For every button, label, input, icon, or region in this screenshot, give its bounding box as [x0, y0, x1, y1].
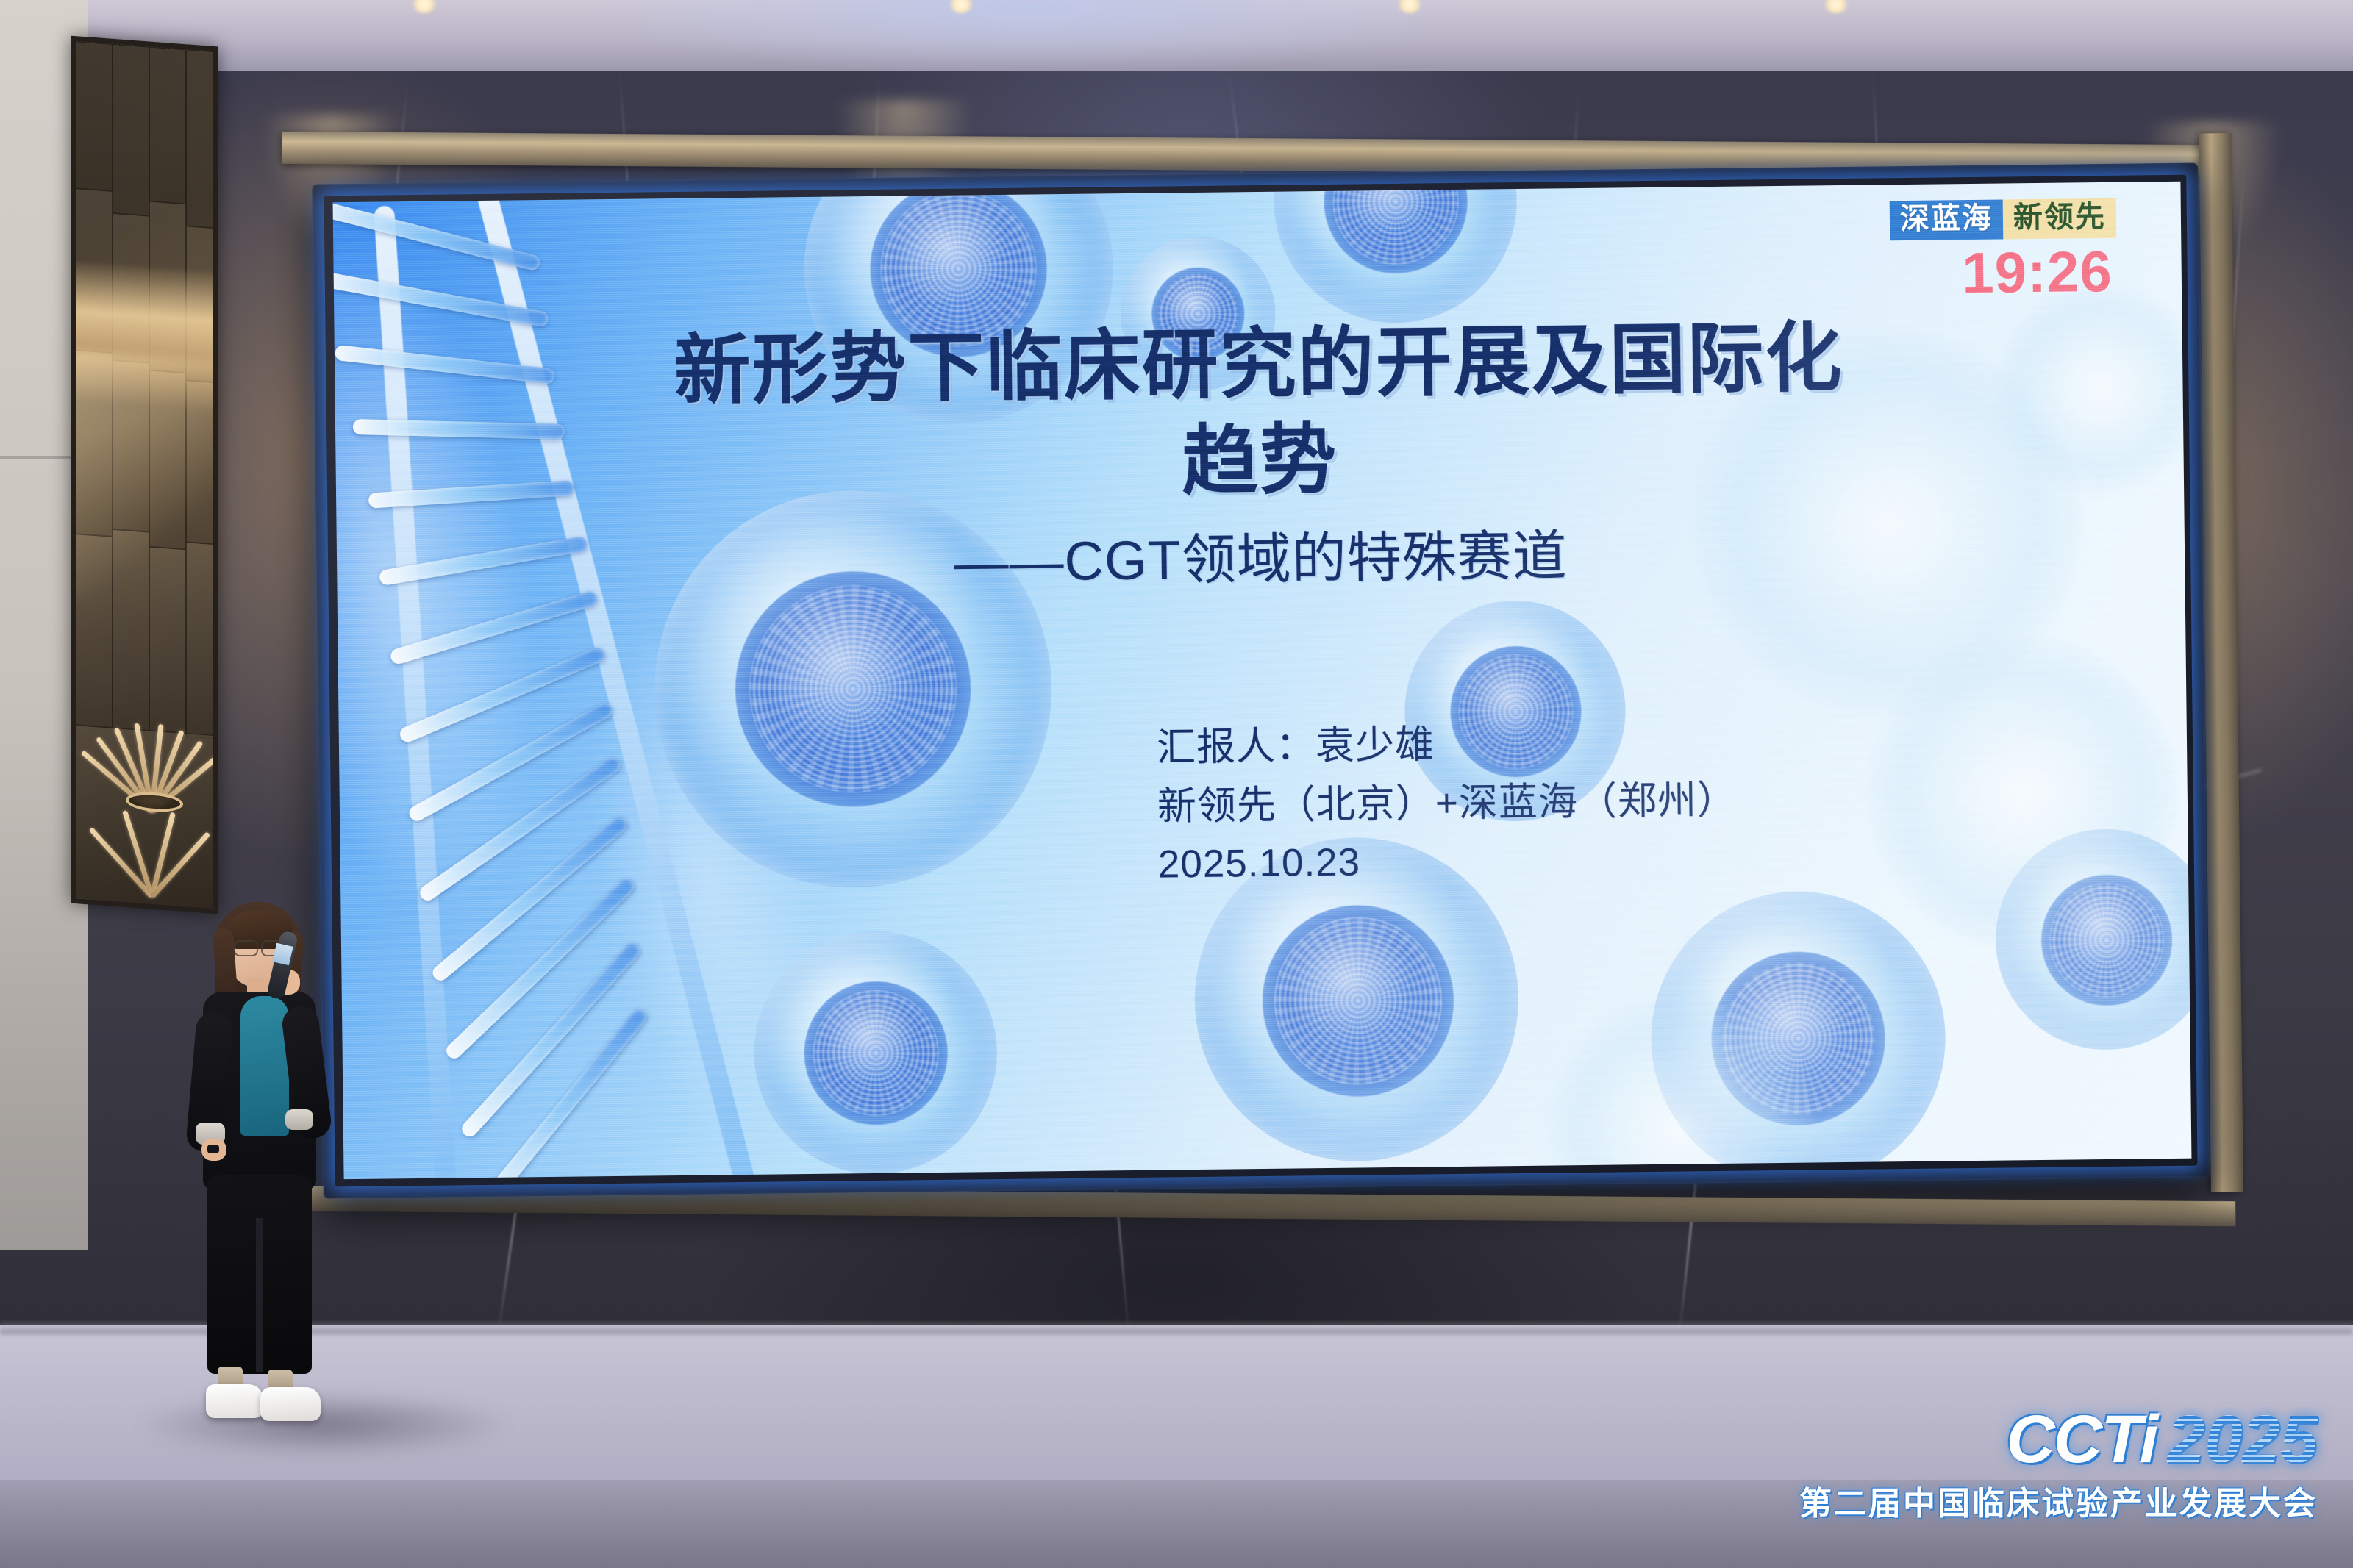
ceiling-light-icon — [949, 0, 974, 13]
conference-logo: CCTi 2025 第二届中国临床试验产业发展大会 — [1799, 1408, 2318, 1524]
logo-brand: CCTi — [2006, 1408, 2157, 1471]
decorative-gold-panel — [71, 36, 218, 914]
logo-year: 2025 — [2167, 1408, 2318, 1471]
presenter-info-block: 汇报人：袁少雄 新领先（北京）+深蓝海（郑州） 2025.10.23 — [1157, 712, 1738, 894]
ceiling-light-icon — [1397, 0, 1422, 13]
shoe-left — [206, 1384, 263, 1418]
sculpture-blade — [89, 827, 154, 898]
screen-bezel: 新形势下临床研究的开展及国际化 趋势 ——CGT领域的特殊赛道 汇报人：袁少雄 … — [312, 162, 2209, 1198]
ceiling-light-row — [0, 0, 2353, 29]
presenter-affiliation-line: 新领先（北京）+深蓝海（郑州） — [1157, 770, 1737, 835]
trouser-seam — [256, 1218, 263, 1372]
inner-top — [240, 996, 289, 1136]
clock-display: 19:26 — [1890, 243, 2117, 302]
badge-group: 深蓝海 新领先 — [1890, 198, 2117, 240]
presentation-clicker — [207, 1145, 219, 1153]
presentation-slide[interactable]: 新形势下临床研究的开展及国际化 趋势 ——CGT领域的特殊赛道 汇报人：袁少雄 … — [333, 182, 2192, 1179]
ceiling-light-icon — [412, 0, 437, 13]
panel-tile — [149, 47, 186, 204]
led-screen-assembly: 新形势下临床研究的开展及国际化 趋势 ——CGT领域的特殊赛道 汇报人：袁少雄 … — [312, 162, 2209, 1198]
corner-overlay: 深蓝海 新领先 19:26 — [1890, 198, 2118, 302]
presentation-date-line: 2025.10.23 — [1157, 829, 1738, 894]
presenter-name-line: 汇报人：袁少雄 — [1157, 712, 1737, 777]
logo-subtitle: 第二届中国临床试验产业发展大会 — [1799, 1477, 2318, 1524]
shoe-right — [260, 1387, 321, 1421]
ceiling-light-icon — [1824, 0, 1849, 13]
stage-scene: 新形势下临床研究的开展及国际化 趋势 ——CGT领域的特殊赛道 汇报人：袁少雄 … — [0, 0, 2353, 1568]
panel-tile — [113, 44, 149, 216]
panel-tile — [76, 41, 113, 191]
logo-wordmark-row: CCTi 2025 — [1799, 1408, 2318, 1471]
panel-tile — [186, 49, 218, 229]
shirt-cuff-right — [285, 1109, 313, 1130]
panel-light-sweep — [71, 348, 218, 615]
presenter-figure — [144, 902, 365, 1439]
wheat-sheaf-sculpture — [86, 630, 218, 905]
slide-title: 新形势下临床研究的开展及国际化 趋势 — [334, 307, 2184, 520]
badge-shenlanhai: 深蓝海 — [1890, 200, 2004, 241]
badge-xinlingxian: 新领先 — [2003, 198, 2117, 240]
